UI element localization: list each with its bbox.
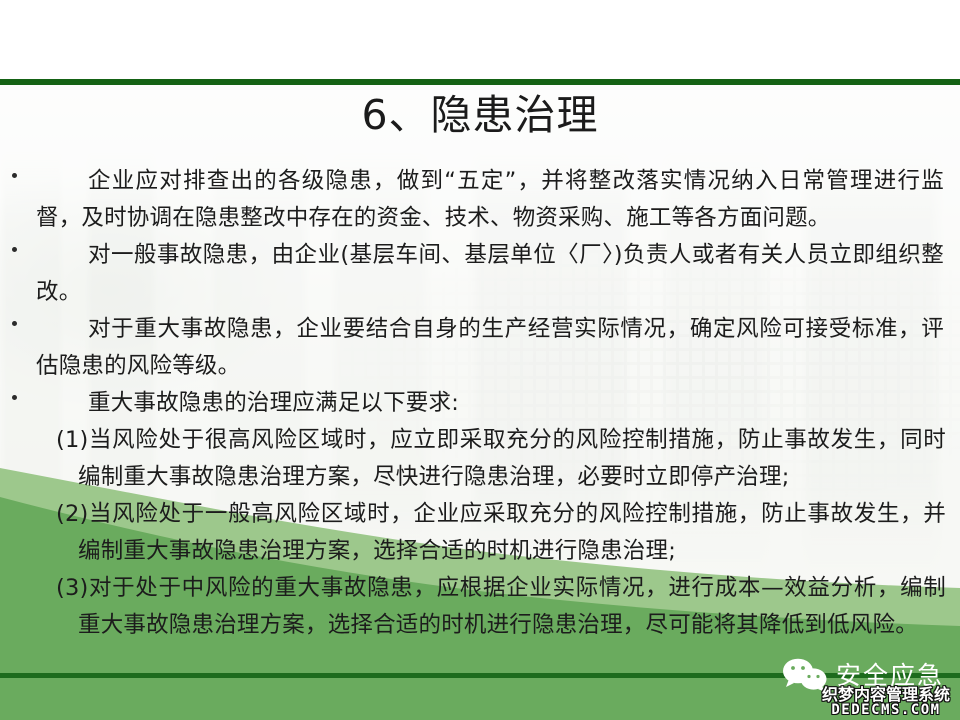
bullet-item: 对一般事故隐患，由企业(基层车间、基层单位〈厂〉)负责人或者有关人员立即组织整改… [0,237,960,311]
bullet-text: 对于重大事故隐患，企业要结合自身的生产经营实际情况，确定风险可接受标准，评估隐患… [36,311,944,385]
wechat-label: 安全应急 [836,663,944,688]
bullet-item: 对于重大事故隐患，企业要结合自身的生产经营实际情况，确定风险可接受标准，评估隐患… [0,311,960,385]
site-watermark-english: DEDECMS.COM [822,703,950,718]
bullet-item: 重大事故隐患的治理应满足以下要求: [0,385,960,422]
numbered-item-text: (3)对于处于中风险的重大事故隐患，应根据企业实际情况，进行成本—效益分析，编制… [48,570,946,644]
numbered-item-text: (1)当风险处于很高风险区域时，应立即采取充分的风险控制措施，防止事故发生，同时… [48,422,946,496]
bullet-text: 企业应对排查出的各级隐患，做到“五定”，并将整改落实情况纳入日常管理进行监督，及… [36,163,944,237]
numbered-item: (1)当风险处于很高风险区域时，应立即采取充分的风险控制措施，防止事故发生，同时… [0,422,960,496]
top-green-rule [0,79,960,85]
slide-body: 企业应对排查出的各级隐患，做到“五定”，并将整改落实情况纳入日常管理进行监督，及… [0,163,960,644]
site-watermark-chinese: 织梦内容管理系统 [822,687,950,704]
bullet-dot-icon [12,321,17,326]
bullet-text: 重大事故隐患的治理应满足以下要求: [36,385,944,422]
numbered-item-text: (2)当风险处于一般高风险区域时，企业应采取充分的风险控制措施，防止事故发生，并… [48,496,946,570]
site-watermark: 织梦内容管理系统 DEDECMS.COM [822,687,950,718]
top-white-band [0,0,960,80]
bullet-item: 企业应对排查出的各级隐患，做到“五定”，并将整改落实情况纳入日常管理进行监督，及… [0,163,960,237]
bullet-dot-icon [12,247,17,252]
presentation-slide: 6、隐患治理 企业应对排查出的各级隐患，做到“五定”，并将整改落实情况纳入日常管… [0,0,960,720]
bullet-text: 对一般事故隐患，由企业(基层车间、基层单位〈厂〉)负责人或者有关人员立即组织整改… [36,237,944,311]
numbered-item: (3)对于处于中风险的重大事故隐患，应根据企业实际情况，进行成本—效益分析，编制… [0,570,960,644]
slide-title: 6、隐患治理 [0,93,960,139]
bullet-dot-icon [12,173,17,178]
numbered-item: (2)当风险处于一般高风险区域时，企业应采取充分的风险控制措施，防止事故发生，并… [0,496,960,570]
bullet-dot-icon [12,395,17,400]
